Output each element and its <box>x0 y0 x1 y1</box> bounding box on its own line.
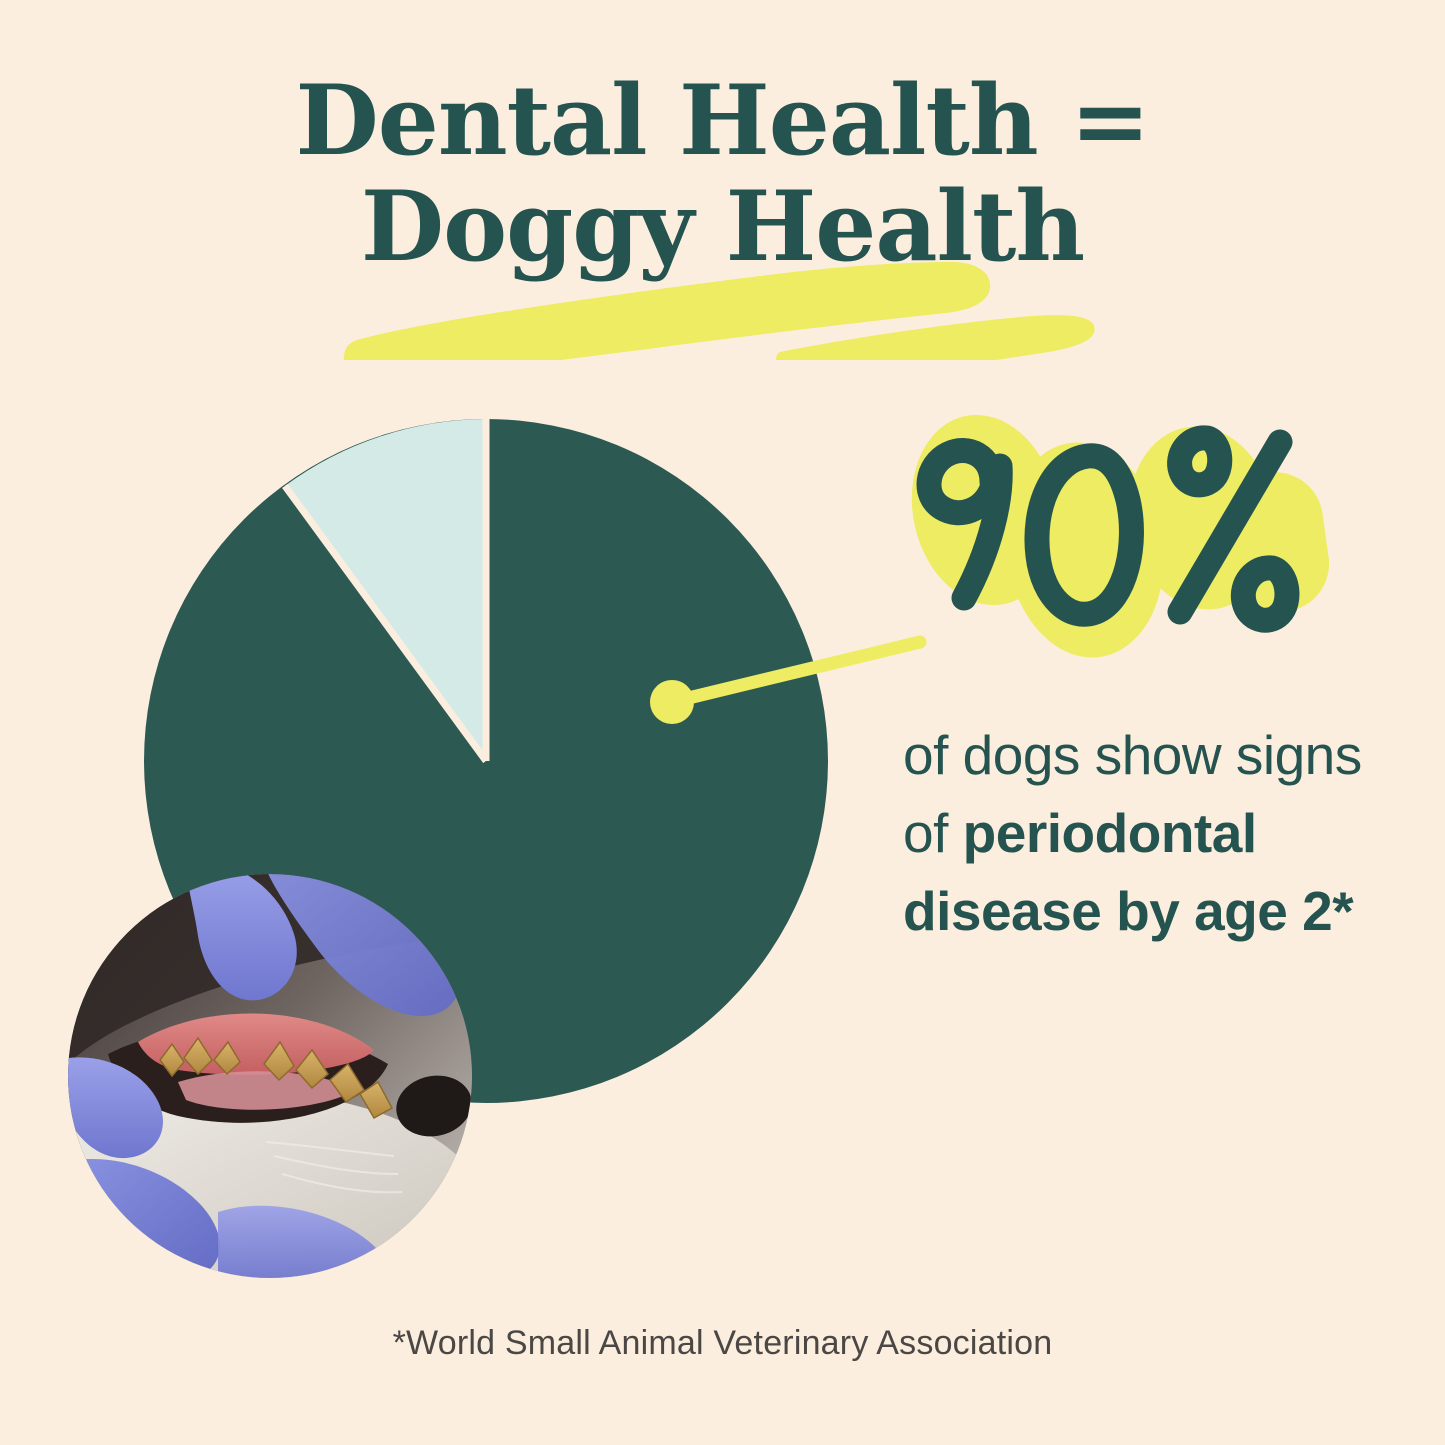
title-line-2: Doggy Health <box>0 174 1445 280</box>
infographic-canvas: Dental Health = Doggy Health <box>0 0 1445 1445</box>
title-line-1: Dental Health = <box>0 68 1445 174</box>
footnote-source: *World Small Animal Veterinary Associati… <box>0 1324 1445 1363</box>
stat-callout: 90% <box>880 400 1380 690</box>
stat-description: of dogs show signs of periodontal diseas… <box>903 716 1373 950</box>
dog-dental-photo-svg <box>68 874 472 1278</box>
page-title: Dental Health = Doggy Health <box>0 68 1445 280</box>
stat-90-percent-svg: 90% <box>880 400 1380 690</box>
stat-value-text: 90% <box>880 685 882 687</box>
stat-description-bold: periodontal disease by age 2* <box>903 802 1353 942</box>
dog-dental-photo <box>68 874 472 1278</box>
